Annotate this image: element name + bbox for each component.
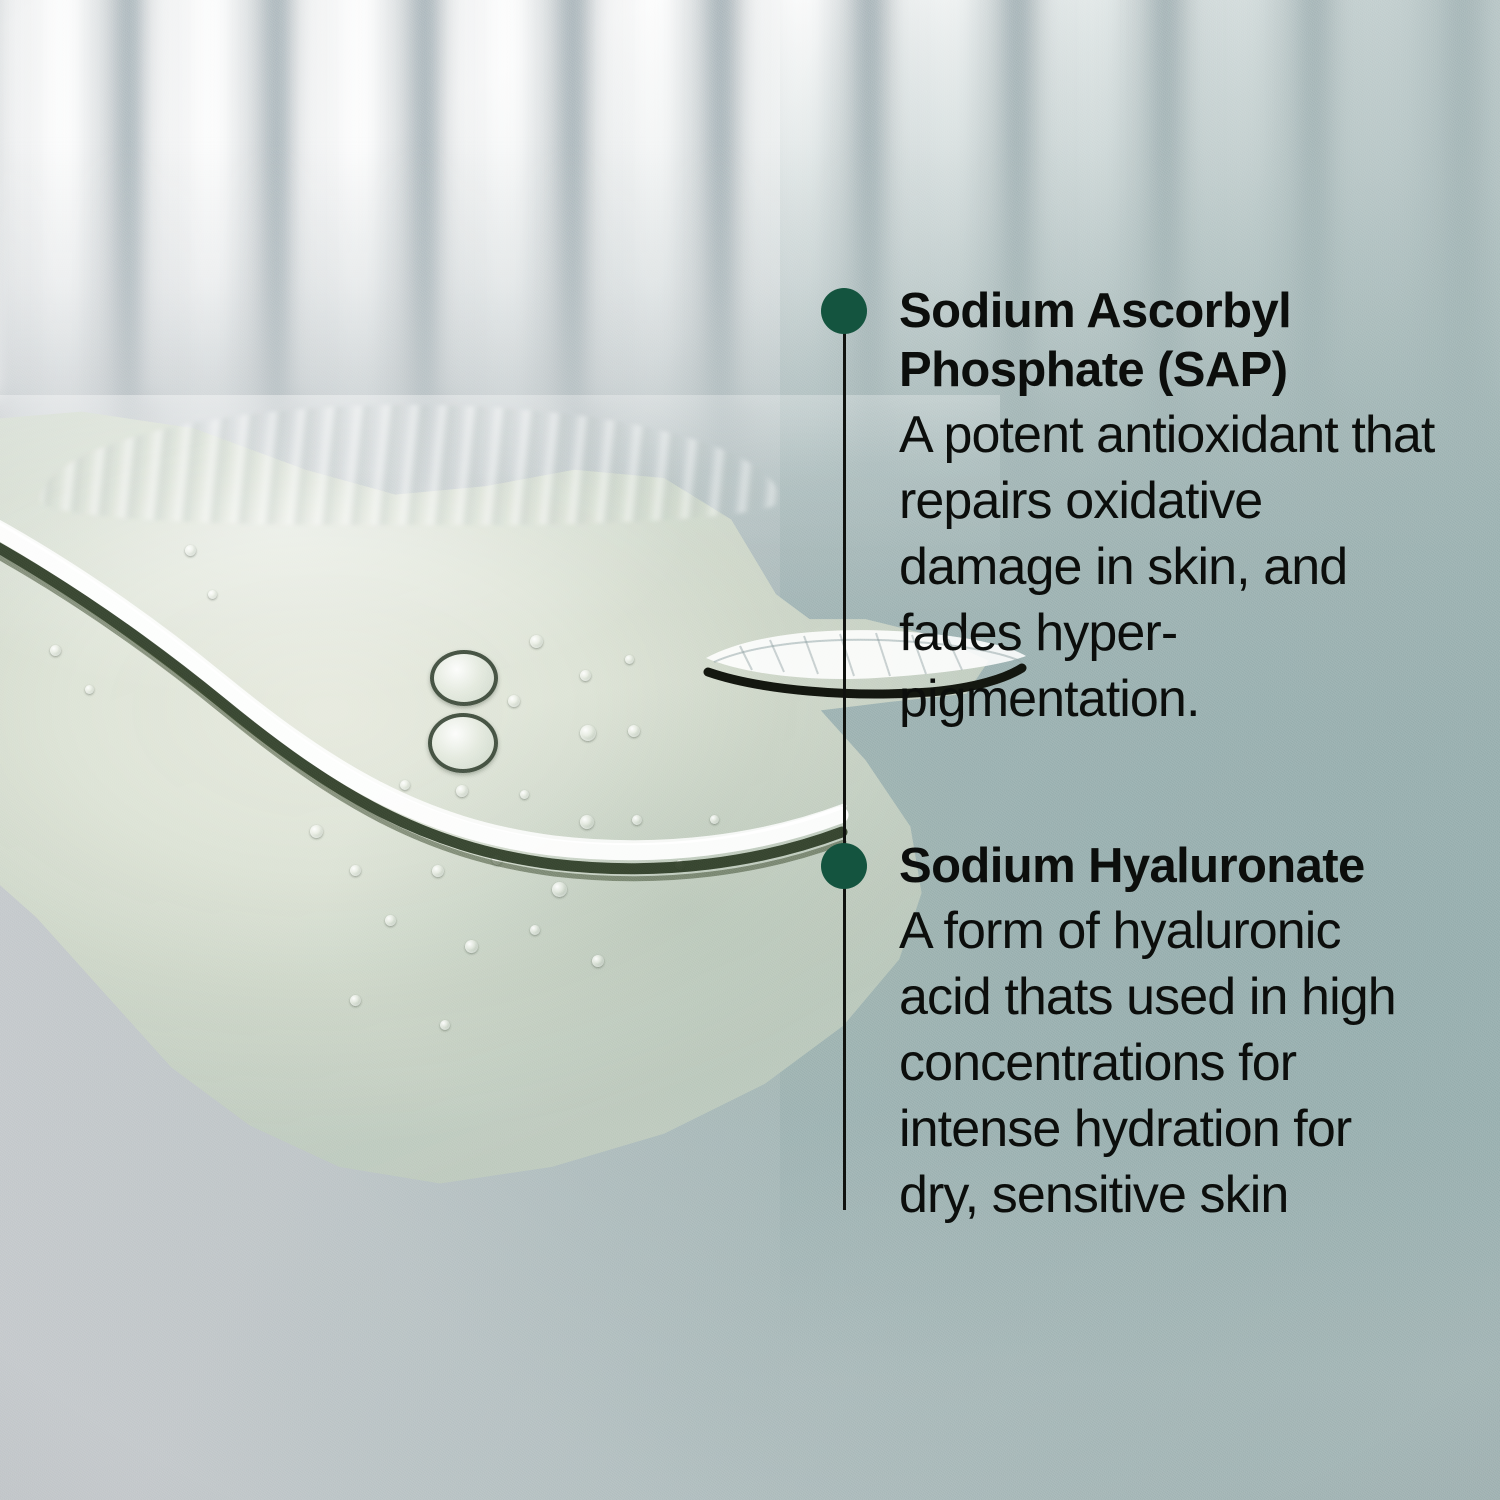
product-ingredient-infographic: Sodium Ascorbyl Phosphate (SAP) A potent… (0, 0, 1500, 1500)
ingredient-title: Sodium Hyaluronate (899, 837, 1439, 896)
ingredient-timeline (843, 305, 846, 1210)
bullet-dot-icon (821, 843, 867, 889)
ingredient-item: Sodium Hyaluronate A form of hyaluronic … (899, 837, 1439, 1228)
ingredient-title: Sodium Ascorbyl Phosphate (SAP) (899, 282, 1439, 400)
gel-bubble (592, 955, 604, 967)
bullet-dot-icon (821, 288, 867, 334)
gel-bubble (385, 915, 396, 926)
ingredient-item: Sodium Ascorbyl Phosphate (SAP) A potent… (899, 282, 1439, 732)
gel-bubble (350, 995, 361, 1006)
gel-bubble (465, 940, 478, 953)
gel-bubble (530, 925, 540, 935)
ingredient-description: A potent antioxidant that repairs oxidat… (899, 402, 1439, 732)
gel-bubble (440, 1020, 450, 1030)
ingredient-description: A form of hyaluronic acid thats used in … (899, 898, 1439, 1228)
